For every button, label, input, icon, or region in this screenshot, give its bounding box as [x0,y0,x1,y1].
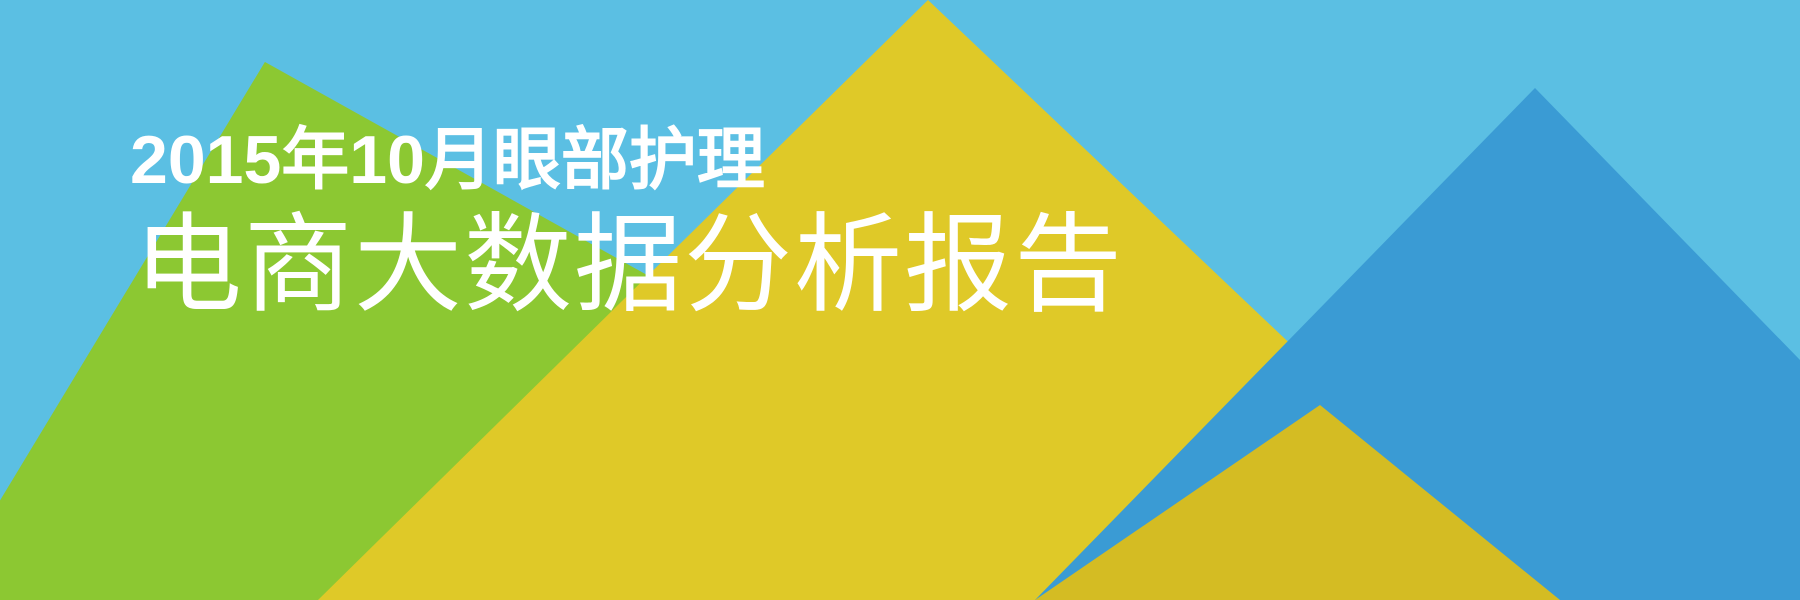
page-title-line-1: 2015年10月眼部护理 [130,126,1124,194]
title-block: 2015年10月眼部护理 电商大数据分析报告 [130,126,1124,321]
report-cover-slide: 2015年10月眼部护理 电商大数据分析报告 [0,0,1800,600]
page-title-line-2: 电商大数据分析报告 [134,208,1124,321]
